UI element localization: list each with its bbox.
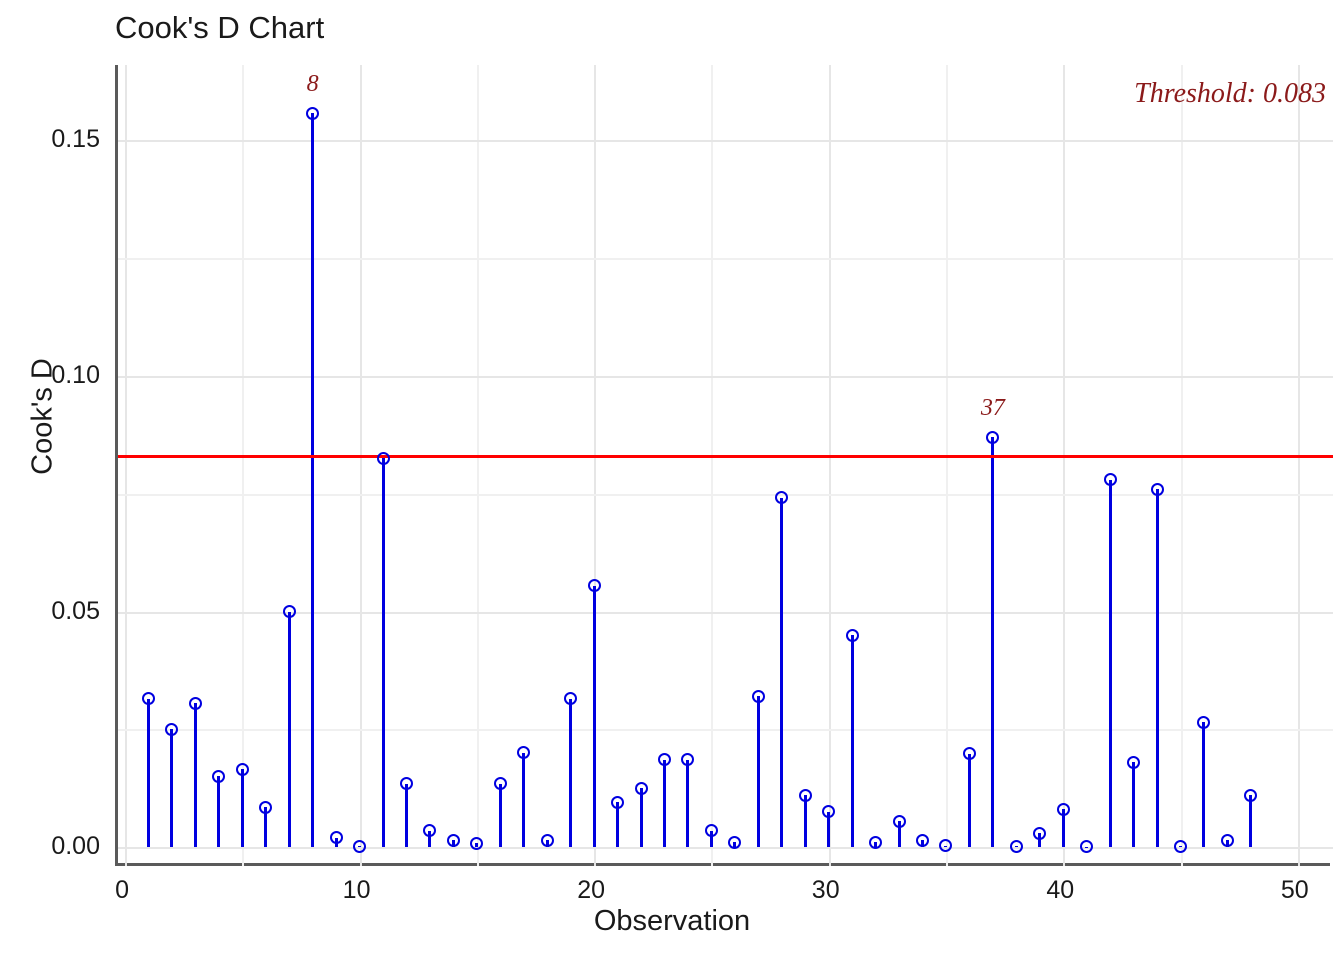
gridline-x-major <box>125 65 127 866</box>
stem-line <box>522 753 525 847</box>
threshold-annotation: Threshold: 0.083 <box>1134 78 1326 110</box>
gridline-x-minor <box>1181 65 1183 866</box>
data-point[interactable] <box>658 753 671 766</box>
gridline-y-minor <box>118 729 1333 731</box>
stem-line <box>170 729 173 847</box>
data-point[interactable] <box>588 579 601 592</box>
data-point[interactable] <box>869 836 882 849</box>
data-point[interactable] <box>752 690 765 703</box>
data-point[interactable] <box>963 747 976 760</box>
data-point[interactable] <box>916 834 929 847</box>
data-point[interactable] <box>986 431 999 444</box>
gridline-y-major <box>118 847 1333 849</box>
gridline-y-major <box>118 140 1333 142</box>
gridline-x-major <box>1298 65 1300 866</box>
stem-line <box>194 703 197 847</box>
gridline-x-major <box>360 65 362 866</box>
x-tick-label: 20 <box>551 876 631 905</box>
data-point[interactable] <box>1174 840 1187 853</box>
point-label-37: 37 <box>981 395 1005 422</box>
stem-line <box>499 784 502 848</box>
x-tick-label: 50 <box>1255 876 1335 905</box>
data-point[interactable] <box>1127 756 1140 769</box>
data-point[interactable] <box>283 605 296 618</box>
stem-line <box>991 437 994 847</box>
data-point[interactable] <box>165 723 178 736</box>
stem-line <box>1156 489 1159 847</box>
data-point[interactable] <box>259 801 272 814</box>
stem-line <box>1109 480 1112 848</box>
data-point[interactable] <box>611 796 624 809</box>
gridline-x-minor <box>242 65 244 866</box>
stem-line <box>686 760 689 847</box>
data-point[interactable] <box>189 697 202 710</box>
data-point[interactable] <box>1010 840 1023 853</box>
stem-line <box>968 754 971 847</box>
x-tick-label: 30 <box>786 876 866 905</box>
stem-line <box>757 696 760 847</box>
x-tick-label: 10 <box>317 876 397 905</box>
data-point[interactable] <box>400 777 413 790</box>
data-point[interactable] <box>1057 803 1070 816</box>
stem-line <box>382 458 385 847</box>
data-point[interactable] <box>1104 473 1117 486</box>
stem-line <box>616 802 619 847</box>
cooks-d-chart-figure: Cook's D Chart Cook's D Observation 0.00… <box>0 0 1344 960</box>
gridline-x-minor <box>711 65 713 866</box>
data-point[interactable] <box>1221 834 1234 847</box>
data-point[interactable] <box>1151 483 1164 496</box>
gridline-x-minor <box>946 65 948 866</box>
stem-line <box>311 113 314 847</box>
stem-line <box>804 795 807 847</box>
data-point[interactable] <box>705 824 718 837</box>
data-point[interactable] <box>330 831 343 844</box>
stem-line <box>569 699 572 847</box>
data-point[interactable] <box>1080 840 1093 853</box>
data-point[interactable] <box>1033 827 1046 840</box>
data-point[interactable] <box>447 834 460 847</box>
x-tick-label: 40 <box>1020 876 1100 905</box>
data-point[interactable] <box>799 789 812 802</box>
data-point[interactable] <box>541 834 554 847</box>
threshold-line <box>118 455 1333 458</box>
data-point[interactable] <box>494 777 507 790</box>
data-point[interactable] <box>236 763 249 776</box>
data-point[interactable] <box>212 770 225 783</box>
gridline-x-major <box>829 65 831 866</box>
stem-line <box>780 498 783 848</box>
gridline-x-major <box>1063 65 1065 866</box>
stem-line <box>640 788 643 847</box>
data-point[interactable] <box>142 692 155 705</box>
stem-line <box>1202 722 1205 847</box>
data-point[interactable] <box>635 782 648 795</box>
stem-line <box>217 776 220 847</box>
stem-line <box>288 612 291 848</box>
stem-line <box>405 784 408 848</box>
data-point[interactable] <box>423 824 436 837</box>
gridline-x-minor <box>477 65 479 866</box>
stem-line <box>593 586 596 848</box>
gridline-y-minor <box>118 494 1333 496</box>
data-point[interactable] <box>1244 789 1257 802</box>
data-point[interactable] <box>353 840 366 853</box>
data-point[interactable] <box>517 746 530 759</box>
stem-line <box>241 769 244 847</box>
plot-panel: 837 <box>115 65 1330 866</box>
data-point[interactable] <box>681 753 694 766</box>
data-point[interactable] <box>1197 716 1210 729</box>
data-point[interactable] <box>939 839 952 852</box>
stem-line <box>851 635 854 847</box>
stem-line <box>1249 795 1252 847</box>
stem-line <box>663 760 666 847</box>
data-point[interactable] <box>775 491 788 504</box>
gridline-y-minor <box>118 258 1333 260</box>
gridline-y-major <box>118 376 1333 378</box>
x-tick-label: 0 <box>82 876 162 905</box>
data-point[interactable] <box>306 107 319 120</box>
gridline-y-major <box>118 612 1333 614</box>
data-point[interactable] <box>564 692 577 705</box>
point-label-8: 8 <box>307 71 319 98</box>
data-point[interactable] <box>377 452 390 465</box>
data-point[interactable] <box>893 815 906 828</box>
data-point[interactable] <box>822 805 835 818</box>
data-point[interactable] <box>846 629 859 642</box>
stem-line <box>1132 762 1135 847</box>
stem-line <box>147 699 150 847</box>
